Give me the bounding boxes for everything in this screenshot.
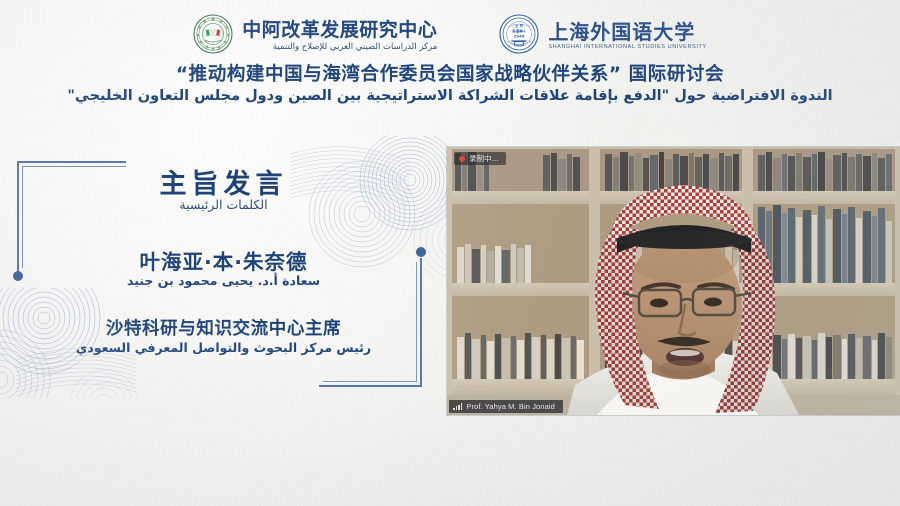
speaker-name-cn: 叶海亚·本·朱奈德 bbox=[0, 245, 447, 275]
recording-label: 录制中... bbox=[469, 155, 499, 163]
recording-indicator[interactable]: 录制中... bbox=[454, 152, 506, 165]
logo-row: 中阿改革发展研究中心 مركز الدراسات الصيني العربي ل… bbox=[0, 12, 900, 60]
participant-name-label: Prof. Yahya M. Bin Jonaid bbox=[466, 403, 555, 411]
guilloche-pattern-bottom-left bbox=[0, 288, 186, 448]
event-title-ar: الندوة الافتراضية حول "الدفع بإقامة علاق… bbox=[0, 88, 900, 104]
speaker-role-cn: 沙特科研与知识交流中心主席 bbox=[0, 315, 447, 340]
section-heading-cn: 主旨发言 bbox=[0, 162, 447, 201]
logo-sisu-name-en: SHANGHAI INTERNATIONAL STUDIES UNIVERSIT… bbox=[548, 45, 706, 51]
logo-cascr-name-ar: مركز الدراسات الصيني العربي للإصلاح والت… bbox=[242, 43, 437, 52]
signal-bars-icon bbox=[453, 403, 462, 410]
participant-name-bar: Prof. Yahya M. Bin Jonaid bbox=[449, 400, 563, 413]
record-dot-icon bbox=[459, 156, 465, 162]
logo-sisu: 上 外 多语种+ 1949 上海外国语大学 SHANGHAI INTERNATI… bbox=[499, 14, 706, 59]
speaker-name-ar: سعادة أ.د. يحيى محمود بن جنيد bbox=[0, 273, 447, 288]
logo-sisu-text: 上海外国语大学 SHANGHAI INTERNATIONAL STUDIES U… bbox=[548, 22, 706, 51]
svg-text:上 外: 上 外 bbox=[515, 23, 524, 28]
sisu-circular-seal-icon: 上 外 多语种+ 1949 bbox=[499, 14, 539, 59]
slide-canvas: 中阿改革发展研究中心 مركز الدراسات الصيني العربي ل… bbox=[0, 0, 900, 506]
svg-text:1949: 1949 bbox=[514, 33, 525, 38]
logo-cascr: 中阿改革发展研究中心 مركز الدراسات الصيني العربي ل… bbox=[193, 14, 437, 59]
video-background-bookshelf bbox=[447, 147, 900, 415]
header: 中阿改革发展研究中心 مركز الدراسات الصيني العربي ل… bbox=[0, 0, 900, 130]
event-title-cn: “推动构建中国与海湾合作委员会国家战略伙伴关系” 国际研讨会 bbox=[0, 60, 900, 86]
speaker-info-panel: 主旨发言 الكلمات الرئيسية 叶海亚·本·朱奈德 سعادة أ.… bbox=[0, 140, 447, 440]
logo-sisu-name-cn: 上海外国语大学 bbox=[548, 22, 706, 42]
speaker-role-ar: رئيس مركز البحوث والتواصل المعرفي السعود… bbox=[0, 340, 447, 355]
video-feed-panel[interactable]: 录制中... Prof. Yahya M. Bin Jonaid bbox=[447, 147, 900, 415]
cascr-circular-seal-icon bbox=[193, 14, 233, 59]
logo-cascr-name-cn: 中阿改革发展研究中心 bbox=[242, 21, 437, 40]
logo-cascr-text: 中阿改革发展研究中心 مركز الدراسات الصيني العربي ل… bbox=[242, 21, 437, 52]
section-heading-ar: الكلمات الرئيسية bbox=[0, 197, 447, 212]
